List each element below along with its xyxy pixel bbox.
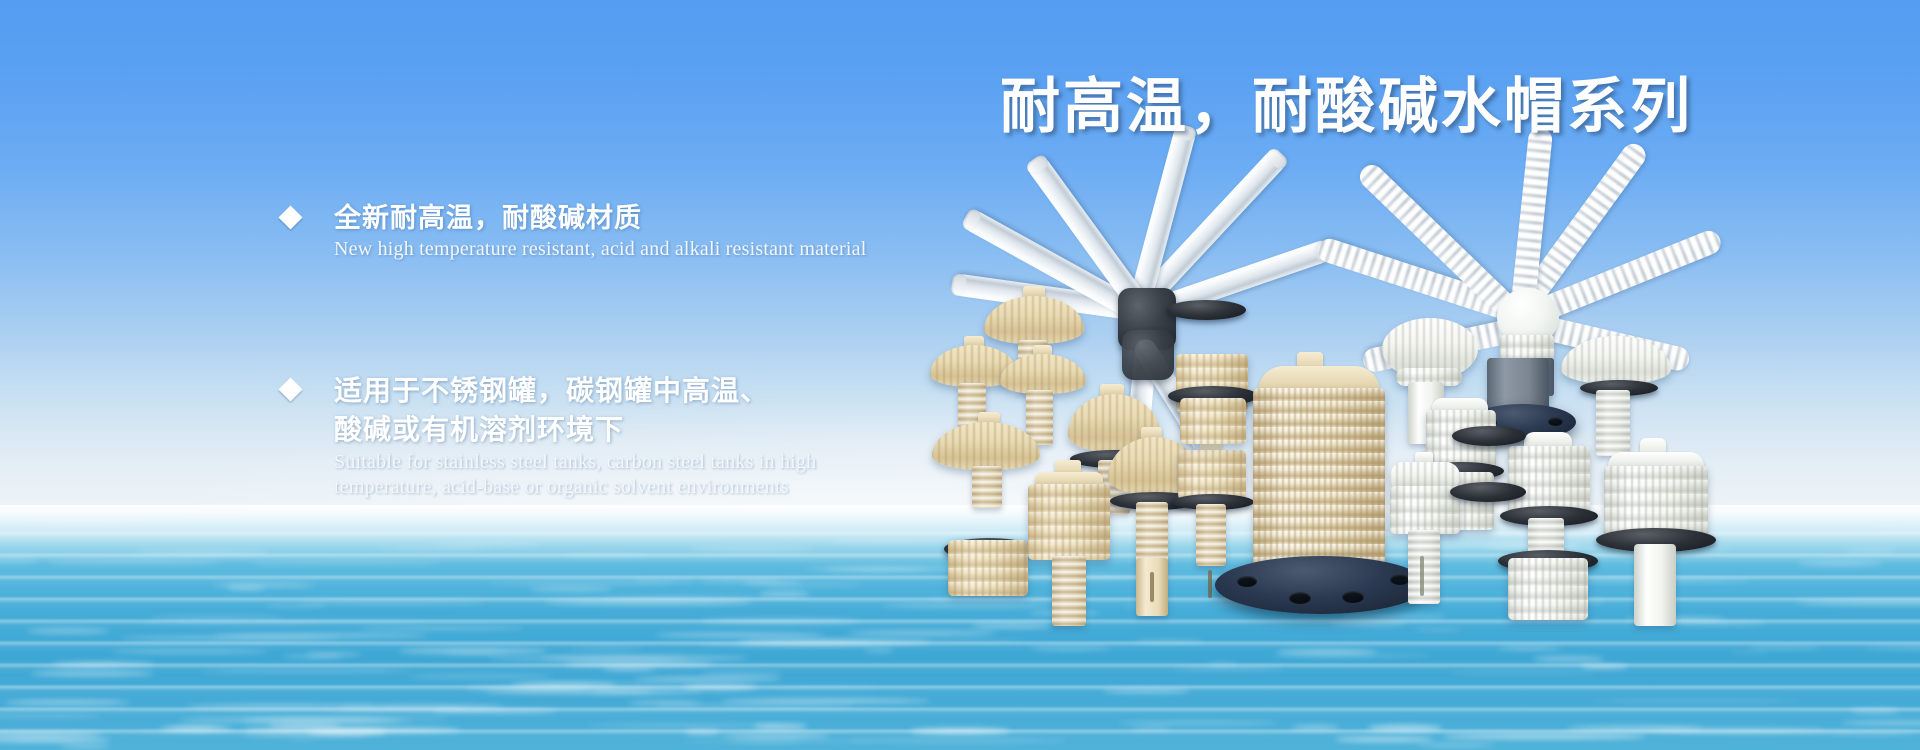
rubber-washer	[1450, 482, 1526, 502]
flange-bolt-hole	[1237, 576, 1257, 587]
nozzle-body	[948, 540, 1028, 596]
feature-title-en: New high temperature resistant, acid and…	[334, 237, 1042, 262]
flange-bolt-hole	[1289, 592, 1311, 604]
feature-title-en: Suitable for stainless steel tanks, carb…	[334, 450, 1042, 500]
nozzle-base-body	[1508, 558, 1588, 620]
nozzle-slot	[1420, 556, 1424, 596]
nozzle-stem	[1052, 556, 1086, 626]
diamond-bullet-icon	[278, 378, 302, 402]
promo-banner: 耐高温，耐酸碱水帽系列 全新耐高温，耐酸碱材质 New high tempera…	[0, 0, 1920, 750]
nozzle-stem	[1196, 504, 1226, 566]
feature-list: 全新耐高温，耐酸碱材质 New high temperature resista…	[282, 200, 1042, 500]
page-title: 耐高温，耐酸碱水帽系列	[1000, 58, 1693, 145]
feature-item: 适用于不锈钢罐，碳钢罐中高温、 酸碱或有机溶剂环境下 Suitable for …	[282, 372, 1042, 499]
rubber-washer	[1452, 426, 1526, 446]
nozzle-slot	[1208, 570, 1212, 598]
rubber-washer	[1166, 300, 1246, 320]
flange-bolt-hole	[1342, 591, 1364, 603]
nozzle-stem	[1634, 544, 1676, 626]
filter-element-body	[1253, 388, 1385, 574]
manifold-hub-lower	[1122, 330, 1174, 380]
diamond-bullet-icon	[278, 205, 302, 229]
nozzle-stem	[1408, 530, 1440, 604]
nozzle-slot	[1150, 572, 1154, 602]
nozzle-body	[1178, 450, 1246, 500]
feature-title-cn: 全新耐高温，耐酸碱材质	[334, 200, 1042, 237]
nozzle-stem	[1136, 502, 1168, 562]
flange-bolt-hole	[1390, 574, 1410, 585]
nozzle-lower-body	[1180, 398, 1246, 444]
feature-title-cn: 适用于不锈钢罐，碳钢罐中高温、 酸碱或有机溶剂环境下	[334, 372, 1042, 449]
nozzle-stem	[1596, 390, 1630, 456]
flange-bolt-hole	[1548, 417, 1563, 426]
feature-item: 全新耐高温，耐酸碱材质 New high temperature resista…	[282, 200, 1042, 262]
